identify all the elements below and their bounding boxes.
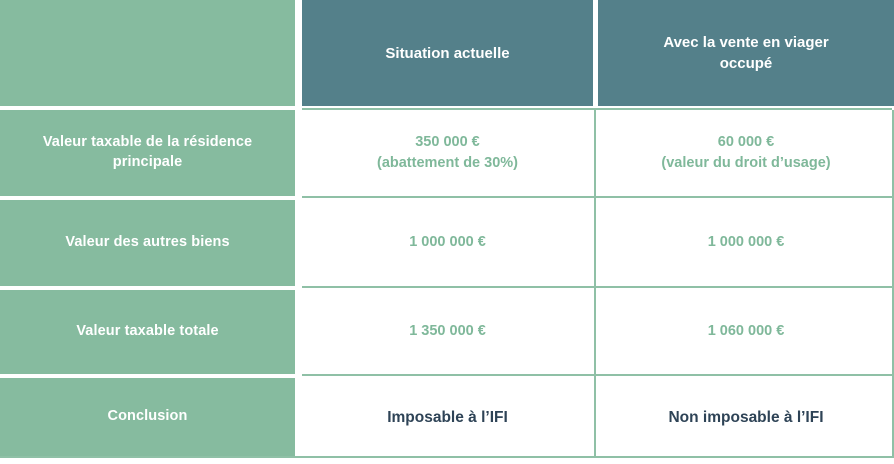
column-divider-vertical — [594, 110, 596, 458]
cell-value-line1: 350 000 € — [377, 132, 518, 153]
cell-value: 60 000 € (valeur du droit d’usage) — [661, 132, 830, 174]
row-label-text: Conclusion — [108, 407, 188, 427]
column-header-vente-viager-occupe: Avec la vente en viager occupé — [598, 0, 894, 106]
row-label-valeur-autres-biens: Valeur des autres biens — [0, 200, 295, 286]
row-label-conclusion: Conclusion — [0, 378, 295, 456]
row-label-valeur-taxable-residence-principale: Valeur taxable de la résidence principal… — [0, 110, 295, 196]
row-label-text: Valeur taxable de la résidence principal… — [14, 133, 281, 172]
cell-value: 1 350 000 € — [409, 321, 486, 342]
row-divider-1 — [302, 196, 892, 198]
column-header-label-line2: occupé — [663, 53, 828, 74]
cell-value-line2: (valeur du droit d’usage) — [661, 153, 830, 174]
cell-residence-principale-viager: 60 000 € (valeur du droit d’usage) — [598, 110, 894, 196]
cell-conclusion-situation-actuelle: Imposable à l’IFI — [302, 378, 593, 458]
cell-value: Non imposable à l’IFI — [668, 407, 823, 429]
cell-residence-principale-situation-actuelle: 350 000 € (abattement de 30%) — [302, 110, 593, 196]
table-corner-blank-cell — [0, 0, 295, 106]
cell-valeur-totale-viager: 1 060 000 € — [598, 290, 894, 374]
cell-value: 1 060 000 € — [708, 321, 785, 342]
row-label-text: Valeur des autres biens — [65, 233, 229, 253]
cell-value: 350 000 € (abattement de 30%) — [377, 132, 518, 174]
cell-value: 1 000 000 € — [708, 232, 785, 253]
cell-value-line2: (abattement de 30%) — [377, 153, 518, 174]
row-label-text: Valeur taxable totale — [76, 322, 218, 342]
row-divider-3 — [302, 374, 892, 376]
cell-autres-biens-situation-actuelle: 1 000 000 € — [302, 200, 593, 286]
column-header-label: Situation actuelle — [385, 43, 509, 64]
cell-valeur-totale-situation-actuelle: 1 350 000 € — [302, 290, 593, 374]
cell-conclusion-viager: Non imposable à l’IFI — [598, 378, 894, 458]
row-label-valeur-taxable-totale: Valeur taxable totale — [0, 290, 295, 374]
row-divider-2 — [302, 286, 892, 288]
cell-value-line1: 60 000 € — [661, 132, 830, 153]
cell-autres-biens-viager: 1 000 000 € — [598, 200, 894, 286]
cell-value: Imposable à l’IFI — [387, 407, 508, 429]
cell-value: 1 000 000 € — [409, 232, 486, 253]
column-header-situation-actuelle: Situation actuelle — [302, 0, 593, 106]
ifi-comparison-table: Situation actuelle Avec la vente en viag… — [0, 0, 894, 464]
table-bottom-border — [0, 456, 894, 458]
row-divider-top — [302, 108, 892, 110]
column-header-label: Avec la vente en viager occupé — [663, 32, 828, 74]
column-header-label-line1: Avec la vente en viager — [663, 32, 828, 53]
